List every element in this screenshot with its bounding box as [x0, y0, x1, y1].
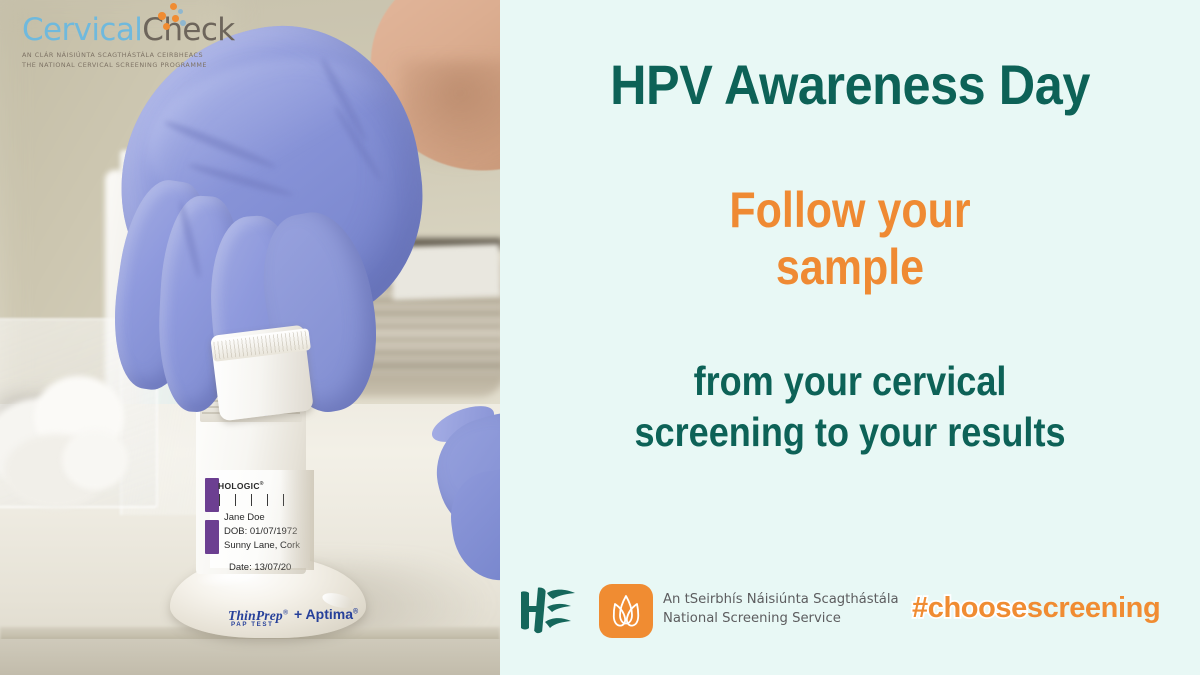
hashtag-screening: screening: [1027, 592, 1160, 624]
message-panel: HPV Awareness Day Follow your sample fro…: [500, 0, 1200, 675]
subheading-teal-line-1: from your cervical: [542, 356, 1158, 407]
nss-irish-label: An tSeirbhís Náisiúnta Scagthástála: [663, 591, 899, 610]
logo-word-cervical: Cervical: [22, 12, 142, 48]
label-purple-marker: [205, 478, 219, 512]
subheading-orange: Follow your sample: [549, 182, 1151, 296]
choosescreening-hashtag: #choosescreening: [912, 592, 1160, 625]
tagline-english: THE NATIONAL CERVICAL SCREENING PROGRAMM…: [22, 61, 222, 71]
subheading-orange-line-1: Follow your: [549, 182, 1151, 239]
label-patient-name: Jane Doe: [224, 513, 265, 523]
cervicalcheck-wordmark: CervicalCheck: [22, 14, 222, 46]
cervicalcheck-logo: CervicalCheck AN CLÁR NÁISIÚNTA SCAGTHÁS…: [22, 14, 222, 71]
label-shadow-fade: [280, 470, 314, 570]
hashtag-choose: #choose: [912, 592, 1027, 624]
national-screening-service-logo: [599, 584, 653, 638]
footer-logos: An tSeirbhís Náisiúnta Scagthástála Nati…: [500, 578, 1200, 648]
nss-english-label: National Screening Service: [663, 610, 899, 629]
subheading-teal-line-2: screening to your results: [542, 407, 1158, 458]
label-tick-marks: [219, 494, 287, 506]
tagline-irish: AN CLÁR NÁISIÚNTA SCAGTHÁSTÁLA CEIRBHEAC…: [22, 51, 222, 61]
cotton-ball: [62, 430, 128, 490]
counter-front: [0, 639, 500, 675]
clinic-photo: ThinPrep® PAP TEST + Aptima® HOLOGIC® Ja…: [0, 0, 500, 675]
label-brand-hologic: HOLOGIC®: [218, 482, 264, 491]
cervicalcheck-logo-dots: [150, 3, 190, 33]
subheading-teal: from your cervical screening to your res…: [542, 356, 1158, 459]
national-screening-service-text: An tSeirbhís Náisiúnta Scagthástála Nati…: [663, 591, 899, 628]
subheading-orange-line-2: sample: [549, 239, 1151, 296]
poster-canvas: ThinPrep® PAP TEST + Aptima® HOLOGIC® Ja…: [0, 0, 1200, 675]
cervicalcheck-tagline: AN CLÁR NÁISIÚNTA SCAGTHÁSTÁLA CEIRBHEAC…: [22, 51, 222, 71]
page-title: HPV Awareness Day: [535, 52, 1165, 117]
vial-base-product-sub: PAP TEST: [231, 621, 273, 628]
hse-logo: [509, 584, 581, 640]
vial-base-plus-aptima: + Aptima®: [294, 606, 358, 622]
label-purple-marker: [205, 520, 219, 554]
